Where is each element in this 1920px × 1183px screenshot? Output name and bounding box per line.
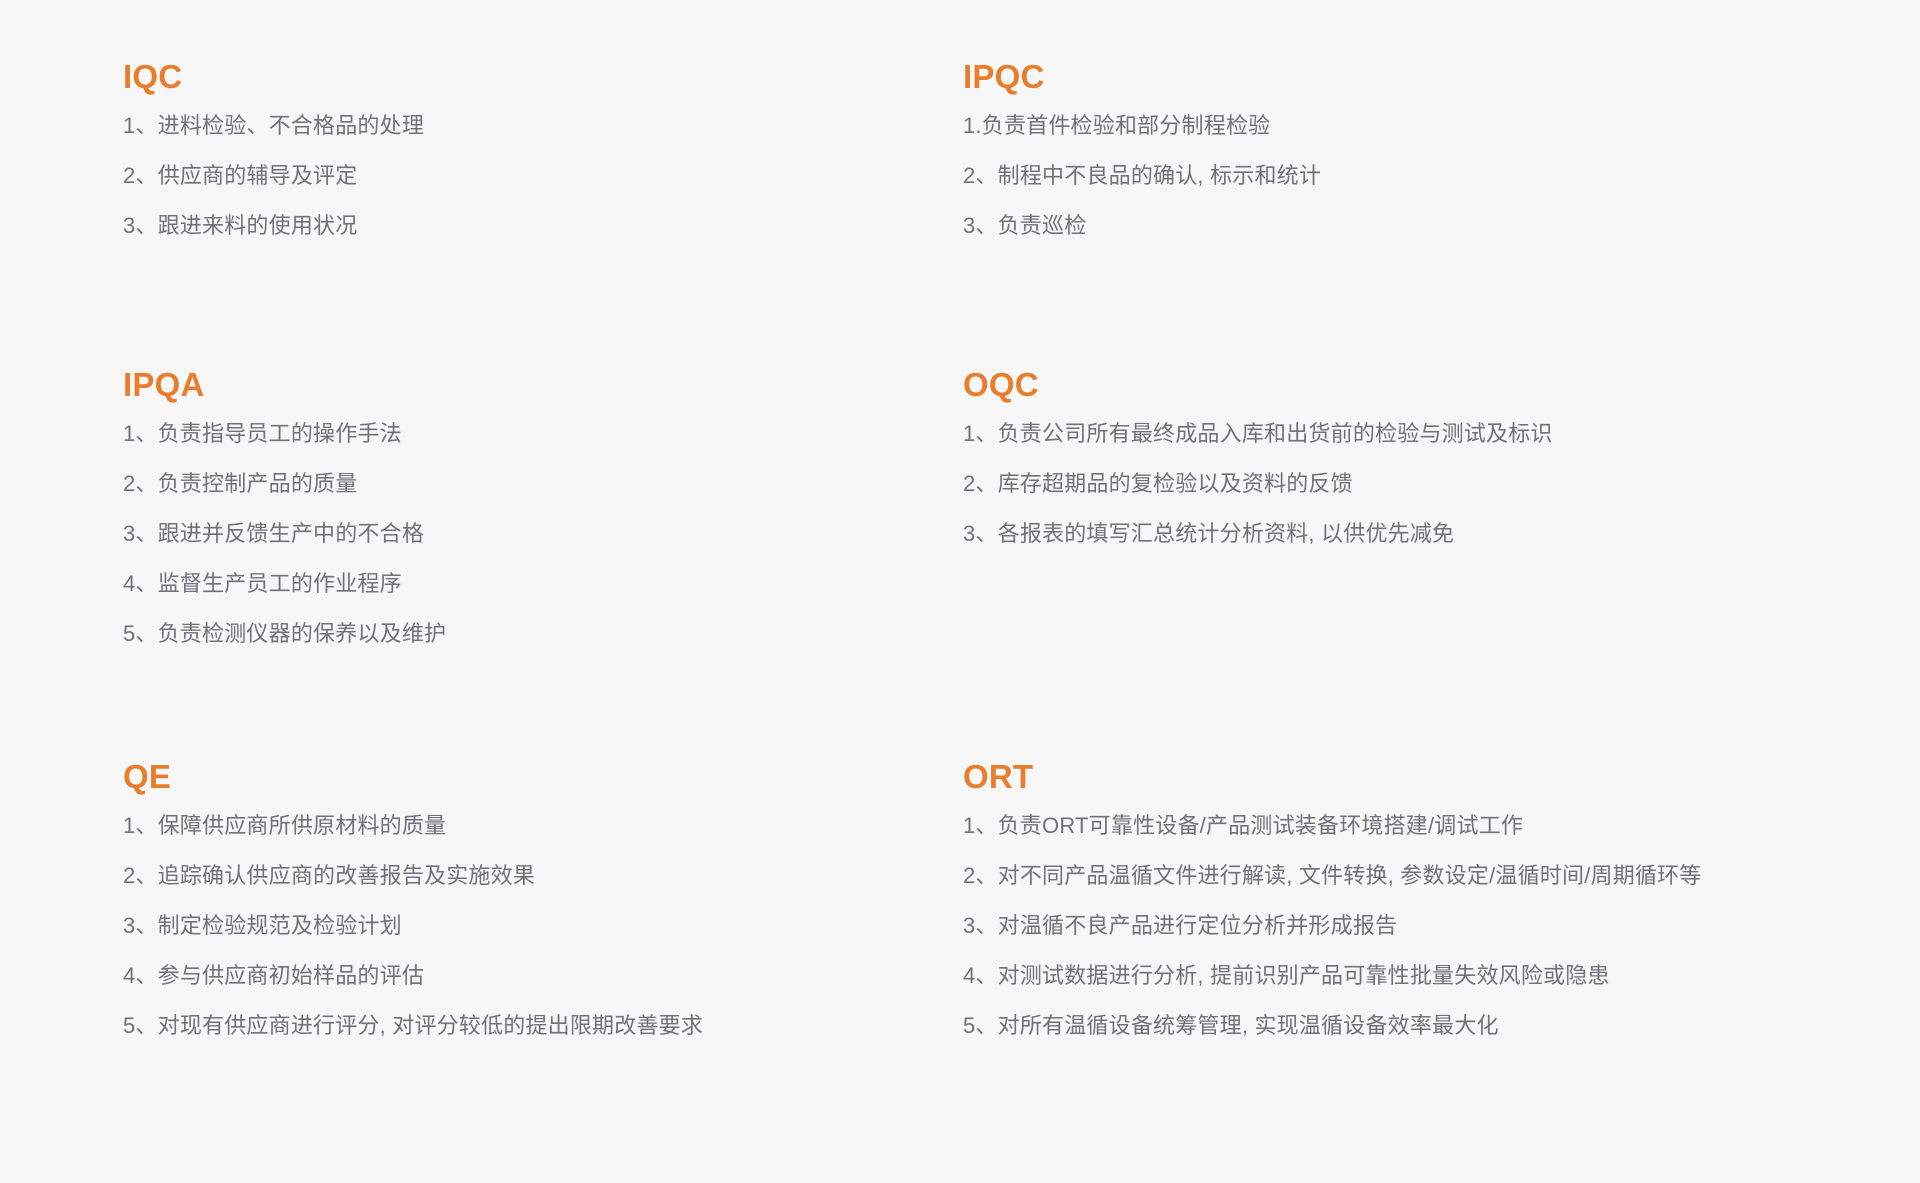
list-item: 1、负责ORT可靠性设备/产品测试装备环境搭建/调试工作 — [963, 815, 1860, 837]
qc-roles-board: IQC 1、进料检验、不合格品的处理 2、供应商的辅导及评定 3、跟进来料的使用… — [0, 0, 1920, 1183]
list-item: 2、库存超期品的复检验以及资料的反馈 — [963, 473, 1860, 495]
list-item: 1、负责公司所有最终成品入库和出货前的检验与测试及标识 — [963, 423, 1860, 445]
list-item: 2、制程中不良品的确认, 标示和统计 — [963, 165, 1860, 187]
item-list-ipqc: 1.负责首件检验和部分制程检验 2、制程中不良品的确认, 标示和统计 3、负责巡… — [963, 115, 1860, 237]
list-item: 5、对所有温循设备统筹管理, 实现温循设备效率最大化 — [963, 1015, 1860, 1037]
section-title-ort: ORT — [963, 760, 1860, 793]
item-list-iqc: 1、进料检验、不合格品的处理 2、供应商的辅导及评定 3、跟进来料的使用状况 — [123, 115, 963, 237]
section-ipqa: IPQA 1、负责指导员工的操作手法 2、负责控制产品的质量 3、跟进并反馈生产… — [123, 368, 963, 760]
item-list-ipqa: 1、负责指导员工的操作手法 2、负责控制产品的质量 3、跟进并反馈生产中的不合格… — [123, 423, 963, 645]
list-item: 3、跟进并反馈生产中的不合格 — [123, 523, 963, 545]
section-title-ipqa: IPQA — [123, 368, 963, 401]
item-list-ort: 1、负责ORT可靠性设备/产品测试装备环境搭建/调试工作 2、对不同产品温循文件… — [963, 815, 1860, 1037]
list-item: 3、各报表的填写汇总统计分析资料, 以供优先减免 — [963, 523, 1860, 545]
list-item: 4、对测试数据进行分析, 提前识别产品可靠性批量失效风险或隐患 — [963, 965, 1860, 987]
list-item: 1、进料检验、不合格品的处理 — [123, 115, 963, 137]
list-item: 1、负责指导员工的操作手法 — [123, 423, 963, 445]
section-ort: ORT 1、负责ORT可靠性设备/产品测试装备环境搭建/调试工作 2、对不同产品… — [963, 760, 1860, 1090]
list-item: 3、负责巡检 — [963, 215, 1860, 237]
sections-grid: IQC 1、进料检验、不合格品的处理 2、供应商的辅导及评定 3、跟进来料的使用… — [0, 60, 1920, 1090]
list-item: 2、对不同产品温循文件进行解读, 文件转换, 参数设定/温循时间/周期循环等 — [963, 865, 1860, 887]
section-iqc: IQC 1、进料检验、不合格品的处理 2、供应商的辅导及评定 3、跟进来料的使用… — [123, 60, 963, 368]
list-item: 2、追踪确认供应商的改善报告及实施效果 — [123, 865, 963, 887]
section-title-oqc: OQC — [963, 368, 1860, 401]
list-item: 1、保障供应商所供原材料的质量 — [123, 815, 963, 837]
list-item: 4、参与供应商初始样品的评估 — [123, 965, 963, 987]
list-item: 5、对现有供应商进行评分, 对评分较低的提出限期改善要求 — [123, 1015, 963, 1037]
section-qe: QE 1、保障供应商所供原材料的质量 2、追踪确认供应商的改善报告及实施效果 3… — [123, 760, 963, 1090]
list-item: 1.负责首件检验和部分制程检验 — [963, 115, 1860, 137]
section-title-qe: QE — [123, 760, 963, 793]
list-item: 3、跟进来料的使用状况 — [123, 215, 963, 237]
section-title-iqc: IQC — [123, 60, 963, 93]
list-item: 2、供应商的辅导及评定 — [123, 165, 963, 187]
section-title-ipqc: IPQC — [963, 60, 1860, 93]
section-ipqc: IPQC 1.负责首件检验和部分制程检验 2、制程中不良品的确认, 标示和统计 … — [963, 60, 1860, 368]
list-item: 4、监督生产员工的作业程序 — [123, 573, 963, 595]
section-oqc: OQC 1、负责公司所有最终成品入库和出货前的检验与测试及标识 2、库存超期品的… — [963, 368, 1860, 760]
item-list-qe: 1、保障供应商所供原材料的质量 2、追踪确认供应商的改善报告及实施效果 3、制定… — [123, 815, 963, 1037]
list-item: 5、负责检测仪器的保养以及维护 — [123, 623, 963, 645]
list-item: 2、负责控制产品的质量 — [123, 473, 963, 495]
item-list-oqc: 1、负责公司所有最终成品入库和出货前的检验与测试及标识 2、库存超期品的复检验以… — [963, 423, 1860, 545]
list-item: 3、制定检验规范及检验计划 — [123, 915, 963, 937]
list-item: 3、对温循不良产品进行定位分析并形成报告 — [963, 915, 1860, 937]
